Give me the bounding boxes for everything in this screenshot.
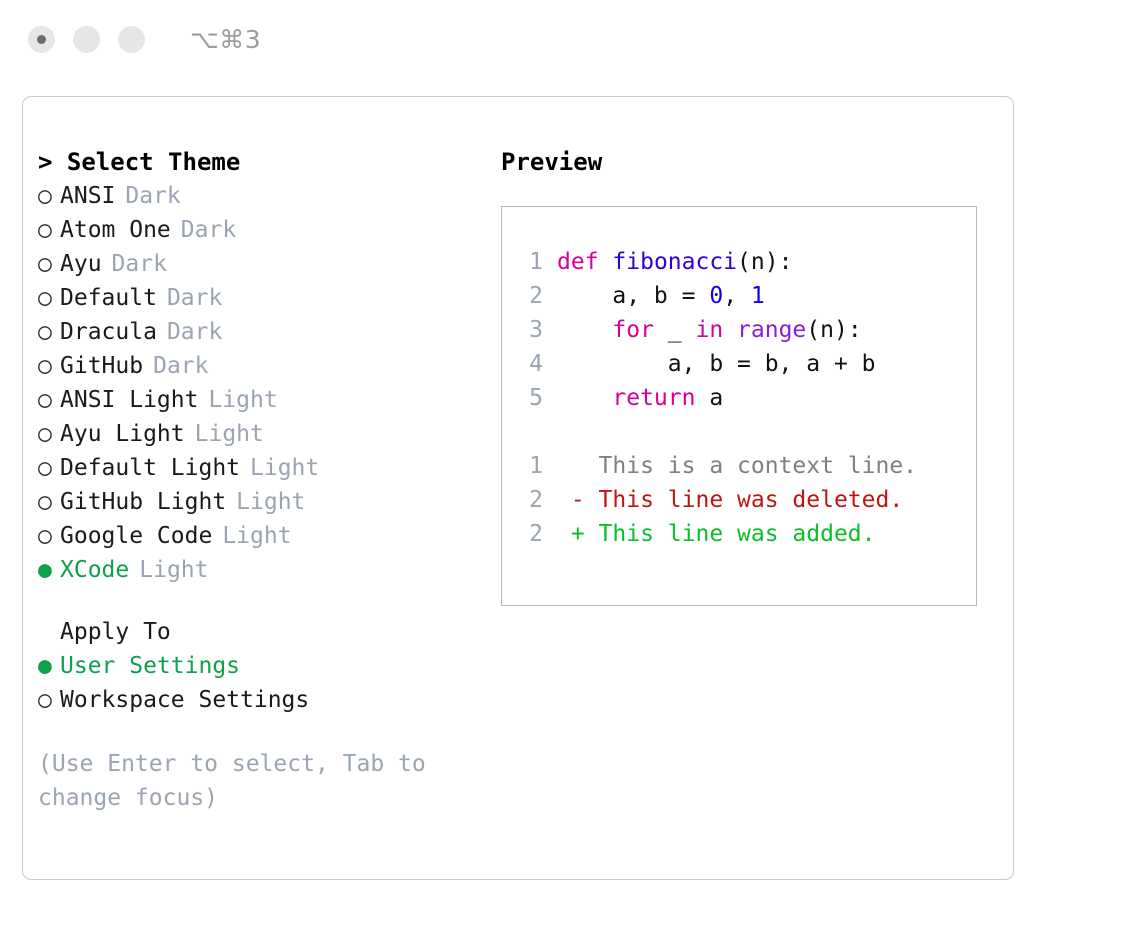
apply-to-option-workspace-settings[interactable]: ○Workspace Settings [38, 683, 488, 717]
section-spacer [38, 587, 488, 615]
code-token: a, b = b, a + b [557, 351, 876, 377]
radio-unselected-icon: ○ [38, 247, 60, 281]
theme-option-label: Ayu [60, 247, 102, 281]
theme-picker-column: > Select Theme ○ANSIDark○Atom OneDark○Ay… [38, 145, 488, 815]
theme-option-github[interactable]: ○GitHubDark [38, 349, 488, 383]
code-line: 4 a, b = b, a + b [515, 347, 917, 381]
code-token: range [737, 317, 806, 343]
window-dot-active[interactable] [28, 26, 55, 53]
line-number: 4 [515, 347, 543, 381]
radio-unselected-icon: ○ [38, 179, 60, 213]
theme-option-label: XCode [60, 553, 129, 587]
theme-option-ansi[interactable]: ○ANSIDark [38, 179, 488, 213]
title-bar: ⌥⌘3 [0, 0, 1140, 78]
preview-column: Preview 1def fibonacci(n):2 a, b = 0, 13… [501, 145, 991, 606]
line-number: 3 [515, 313, 543, 347]
theme-option-kind: Dark [167, 315, 222, 349]
window-dot-second[interactable] [73, 26, 100, 53]
preview-heading: Preview [501, 145, 991, 179]
line-number: 1 [515, 245, 543, 279]
code-token: (n): [737, 249, 792, 275]
code-token [557, 385, 612, 411]
line-number: 2 [515, 517, 543, 551]
preview-box: 1def fibonacci(n):2 a, b = 0, 13 for _ i… [501, 206, 977, 606]
diff-line-ctx: 1 This is a context line. [515, 449, 917, 483]
apply-to-option-label: User Settings [60, 649, 240, 683]
apply-to-list: ●User Settings○Workspace Settings [38, 649, 488, 717]
diff-text: This is a context line. [599, 453, 918, 479]
theme-option-kind: Light [236, 485, 305, 519]
apply-to-option-user-settings[interactable]: ●User Settings [38, 649, 488, 683]
code-token: 0 [709, 283, 723, 309]
code-token: in [695, 317, 723, 343]
theme-option-kind: Dark [125, 179, 180, 213]
theme-option-label: Dracula [60, 315, 157, 349]
diff-line-del: 2 - This line was deleted. [515, 483, 917, 517]
code-token: a, b = [557, 283, 709, 309]
radio-unselected-icon: ○ [38, 485, 60, 519]
app-window: ⌥⌘3 > Select Theme ○ANSIDark○Atom OneDar… [0, 0, 1140, 934]
radio-unselected-icon: ○ [38, 417, 60, 451]
radio-unselected-icon: ○ [38, 451, 60, 485]
theme-option-kind: Dark [153, 349, 208, 383]
theme-option-default[interactable]: ○DefaultDark [38, 281, 488, 315]
code-preview: 1def fibonacci(n):2 a, b = 0, 13 for _ i… [515, 245, 917, 551]
code-token: fibonacci [612, 249, 737, 275]
code-line: 5 return a [515, 381, 917, 415]
theme-option-label: GitHub [60, 349, 143, 383]
theme-option-kind: Light [208, 383, 277, 417]
code-token [723, 317, 737, 343]
select-theme-heading: > Select Theme [38, 145, 488, 179]
line-number: 1 [515, 449, 543, 483]
code-token: (n): [806, 317, 861, 343]
theme-option-ayu-light[interactable]: ○Ayu LightLight [38, 417, 488, 451]
theme-option-kind: Light [195, 417, 264, 451]
theme-option-kind: Dark [167, 281, 222, 315]
code-line: 2 a, b = 0, 1 [515, 279, 917, 313]
theme-option-ayu[interactable]: ○AyuDark [38, 247, 488, 281]
theme-option-dracula[interactable]: ○DraculaDark [38, 315, 488, 349]
theme-option-kind: Dark [112, 247, 167, 281]
theme-list: ○ANSIDark○Atom OneDark○AyuDark○DefaultDa… [38, 179, 488, 587]
apply-to-heading: Apply To [38, 615, 488, 649]
theme-option-kind: Light [250, 451, 319, 485]
theme-option-label: Ayu Light [60, 417, 185, 451]
code-token: , [723, 283, 751, 309]
diff-text: This line was added. [599, 521, 876, 547]
theme-option-atom-one[interactable]: ○Atom OneDark [38, 213, 488, 247]
theme-option-kind: Light [222, 519, 291, 553]
diff-marker: - [557, 487, 599, 513]
code-token: a [695, 385, 723, 411]
radio-selected-icon: ● [38, 649, 60, 683]
theme-option-label: Google Code [60, 519, 212, 553]
code-diff-spacer [515, 415, 917, 449]
apply-to-option-label: Workspace Settings [60, 683, 309, 717]
code-token: 1 [751, 283, 765, 309]
radio-unselected-icon: ○ [38, 683, 60, 717]
code-token: _ [654, 317, 696, 343]
radio-unselected-icon: ○ [38, 315, 60, 349]
theme-option-label: Default Light [60, 451, 240, 485]
radio-unselected-icon: ○ [38, 349, 60, 383]
theme-option-label: GitHub Light [60, 485, 226, 519]
theme-option-label: Default [60, 281, 157, 315]
code-token: for [612, 317, 654, 343]
theme-option-xcode[interactable]: ●XCodeLight [38, 553, 488, 587]
radio-selected-icon: ● [38, 553, 60, 587]
radio-unselected-icon: ○ [38, 213, 60, 247]
window-dot-third[interactable] [118, 26, 145, 53]
theme-option-google-code[interactable]: ○Google CodeLight [38, 519, 488, 553]
window-controls [28, 26, 145, 53]
radio-unselected-icon: ○ [38, 519, 60, 553]
radio-unselected-icon: ○ [38, 281, 60, 315]
line-number: 2 [515, 279, 543, 313]
line-number: 5 [515, 381, 543, 415]
theme-option-github-light[interactable]: ○GitHub LightLight [38, 485, 488, 519]
keyboard-hint: (Use Enter to select, Tab to change focu… [38, 747, 448, 815]
theme-option-label: ANSI Light [60, 383, 198, 417]
theme-option-default-light[interactable]: ○Default LightLight [38, 451, 488, 485]
theme-option-kind: Light [139, 553, 208, 587]
diff-text: This line was deleted. [599, 487, 904, 513]
diff-line-add: 2 + This line was added. [515, 517, 917, 551]
diff-marker [557, 453, 599, 479]
code-token [599, 249, 613, 275]
theme-option-kind: Dark [181, 213, 236, 247]
code-token [557, 317, 612, 343]
theme-option-label: Atom One [60, 213, 171, 247]
theme-option-label: ANSI [60, 179, 115, 213]
theme-option-ansi-light[interactable]: ○ANSI LightLight [38, 383, 488, 417]
code-line: 3 for _ in range(n): [515, 313, 917, 347]
line-number: 2 [515, 483, 543, 517]
diff-marker: + [557, 521, 599, 547]
main-panel: > Select Theme ○ANSIDark○Atom OneDark○Ay… [22, 96, 1014, 880]
keyboard-shortcut-label: ⌥⌘3 [190, 25, 261, 54]
radio-unselected-icon: ○ [38, 383, 60, 417]
window-dot-active-indicator [37, 35, 46, 44]
code-token: def [557, 249, 599, 275]
code-token: return [612, 385, 695, 411]
code-line: 1def fibonacci(n): [515, 245, 917, 279]
